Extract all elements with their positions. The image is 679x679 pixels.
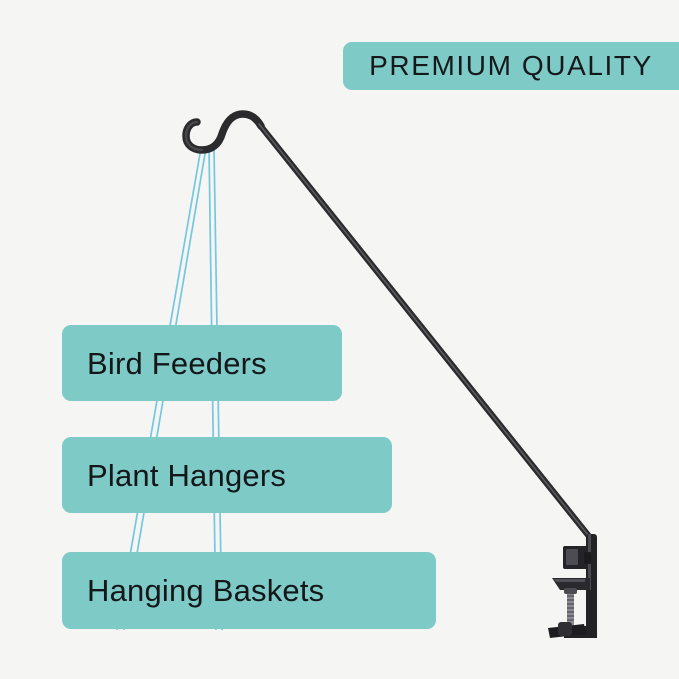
- label-chip-text: Plant Hangers: [87, 460, 286, 491]
- label-chip-plant-hangers: Plant Hangers: [62, 437, 392, 513]
- product-marketing-image: PREMIUM QUALITY Bird Feeders Plant Hange…: [0, 0, 679, 679]
- label-chip-hanging-baskets: Hanging Baskets: [62, 552, 436, 629]
- premium-quality-banner-text: PREMIUM QUALITY: [369, 52, 653, 80]
- premium-quality-banner: PREMIUM QUALITY: [343, 42, 679, 90]
- c-clamp-icon: [548, 534, 597, 638]
- label-chip-text: Hanging Baskets: [87, 575, 324, 606]
- label-chip-text: Bird Feeders: [87, 348, 267, 379]
- label-chip-bird-feeders: Bird Feeders: [62, 325, 342, 401]
- shepherd-s-hook-icon: [186, 114, 261, 150]
